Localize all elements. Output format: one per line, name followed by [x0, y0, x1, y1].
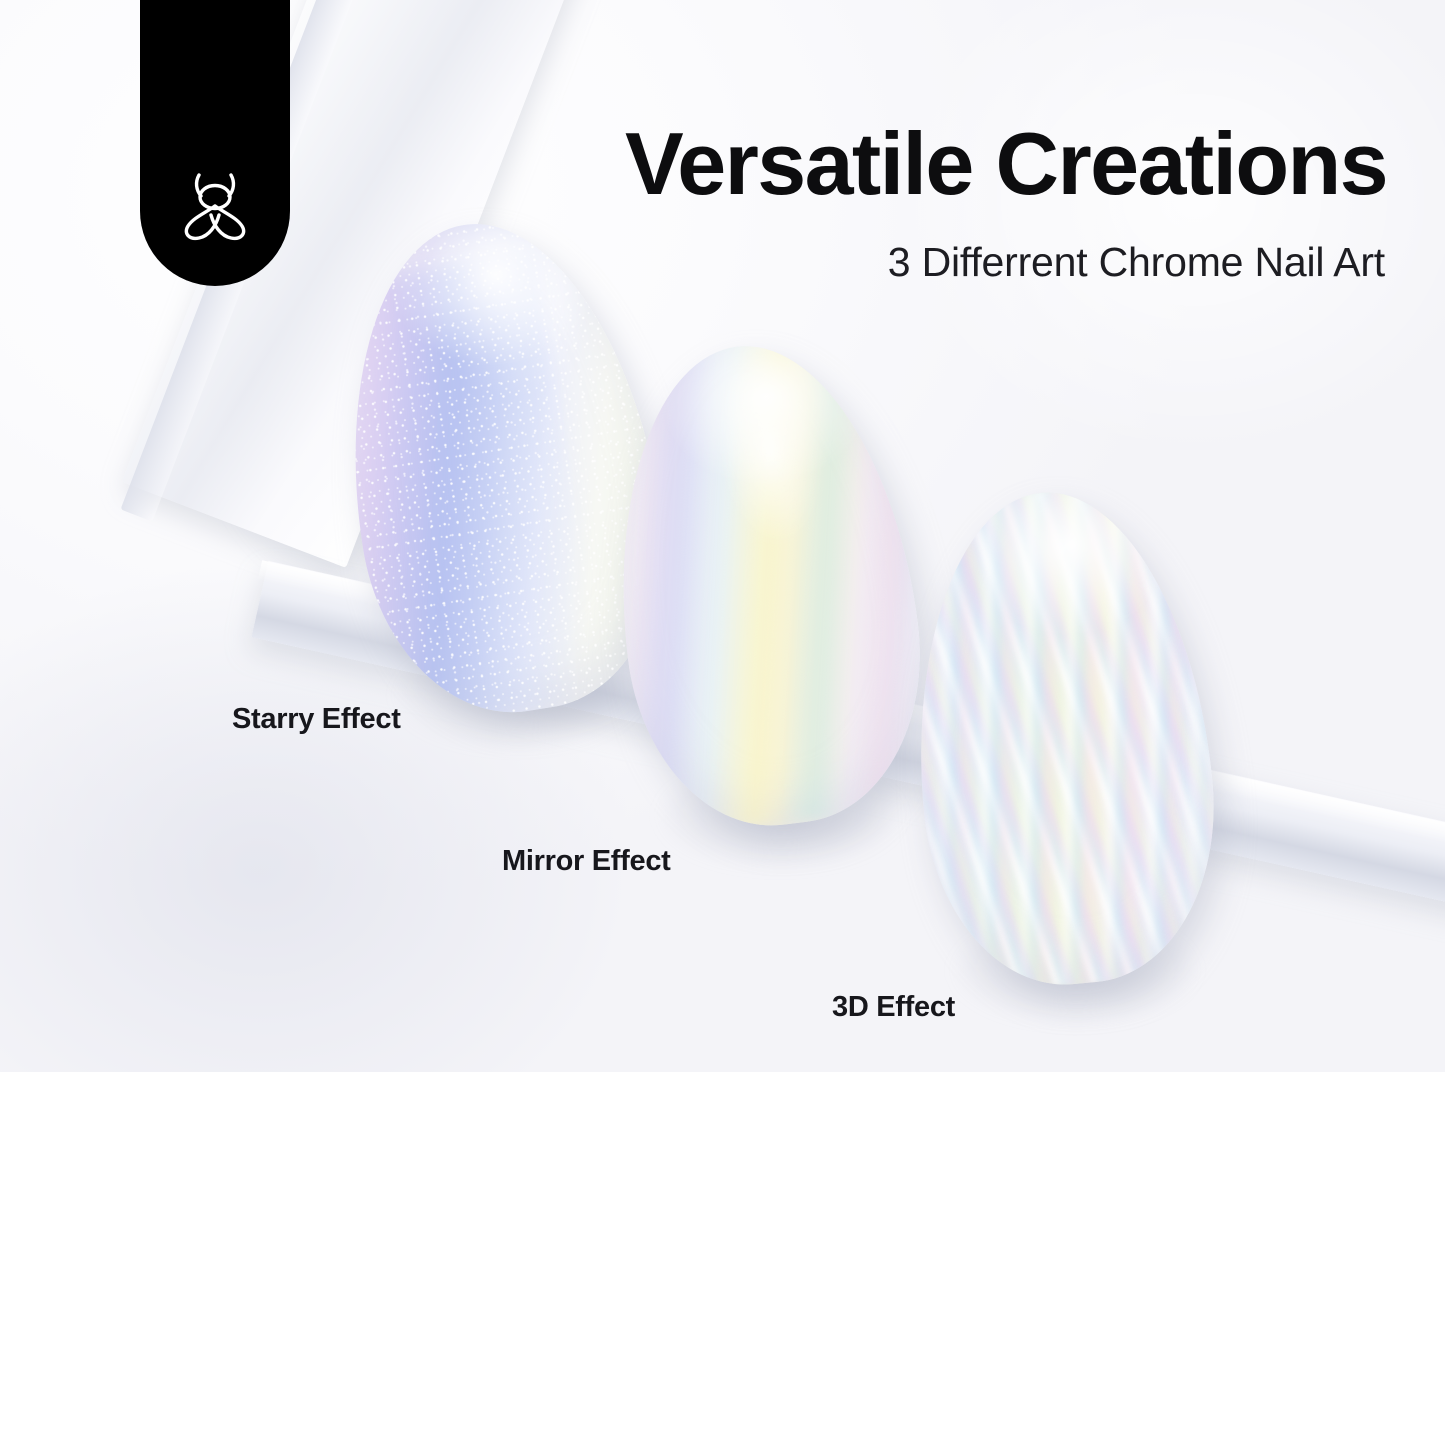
ambient-highlight-right — [885, 0, 1445, 460]
threed-ridge-texture-secondary — [897, 480, 1229, 995]
product-photo-panel: Versatile Creations 3 Differrent Chrome … — [0, 0, 1445, 1072]
product-infographic: Versatile Creations 3 Differrent Chrome … — [0, 0, 1445, 1445]
nail-swatch-3d — [897, 480, 1229, 995]
guidance-section: Guidance: Starry Effect:Directly apply p… — [0, 1072, 1445, 1445]
page-title: Versatile Creations — [0, 120, 1387, 208]
caption-mirror-effect: Mirror Effect — [502, 845, 671, 878]
caption-3d-effect: 3D Effect — [832, 991, 955, 1024]
nail-swatch-mirror — [592, 329, 940, 841]
page-subtitle: 3 Differrent Chrome Nail Art — [0, 238, 1385, 287]
caption-starry-effect: Starry Effect — [232, 703, 401, 736]
